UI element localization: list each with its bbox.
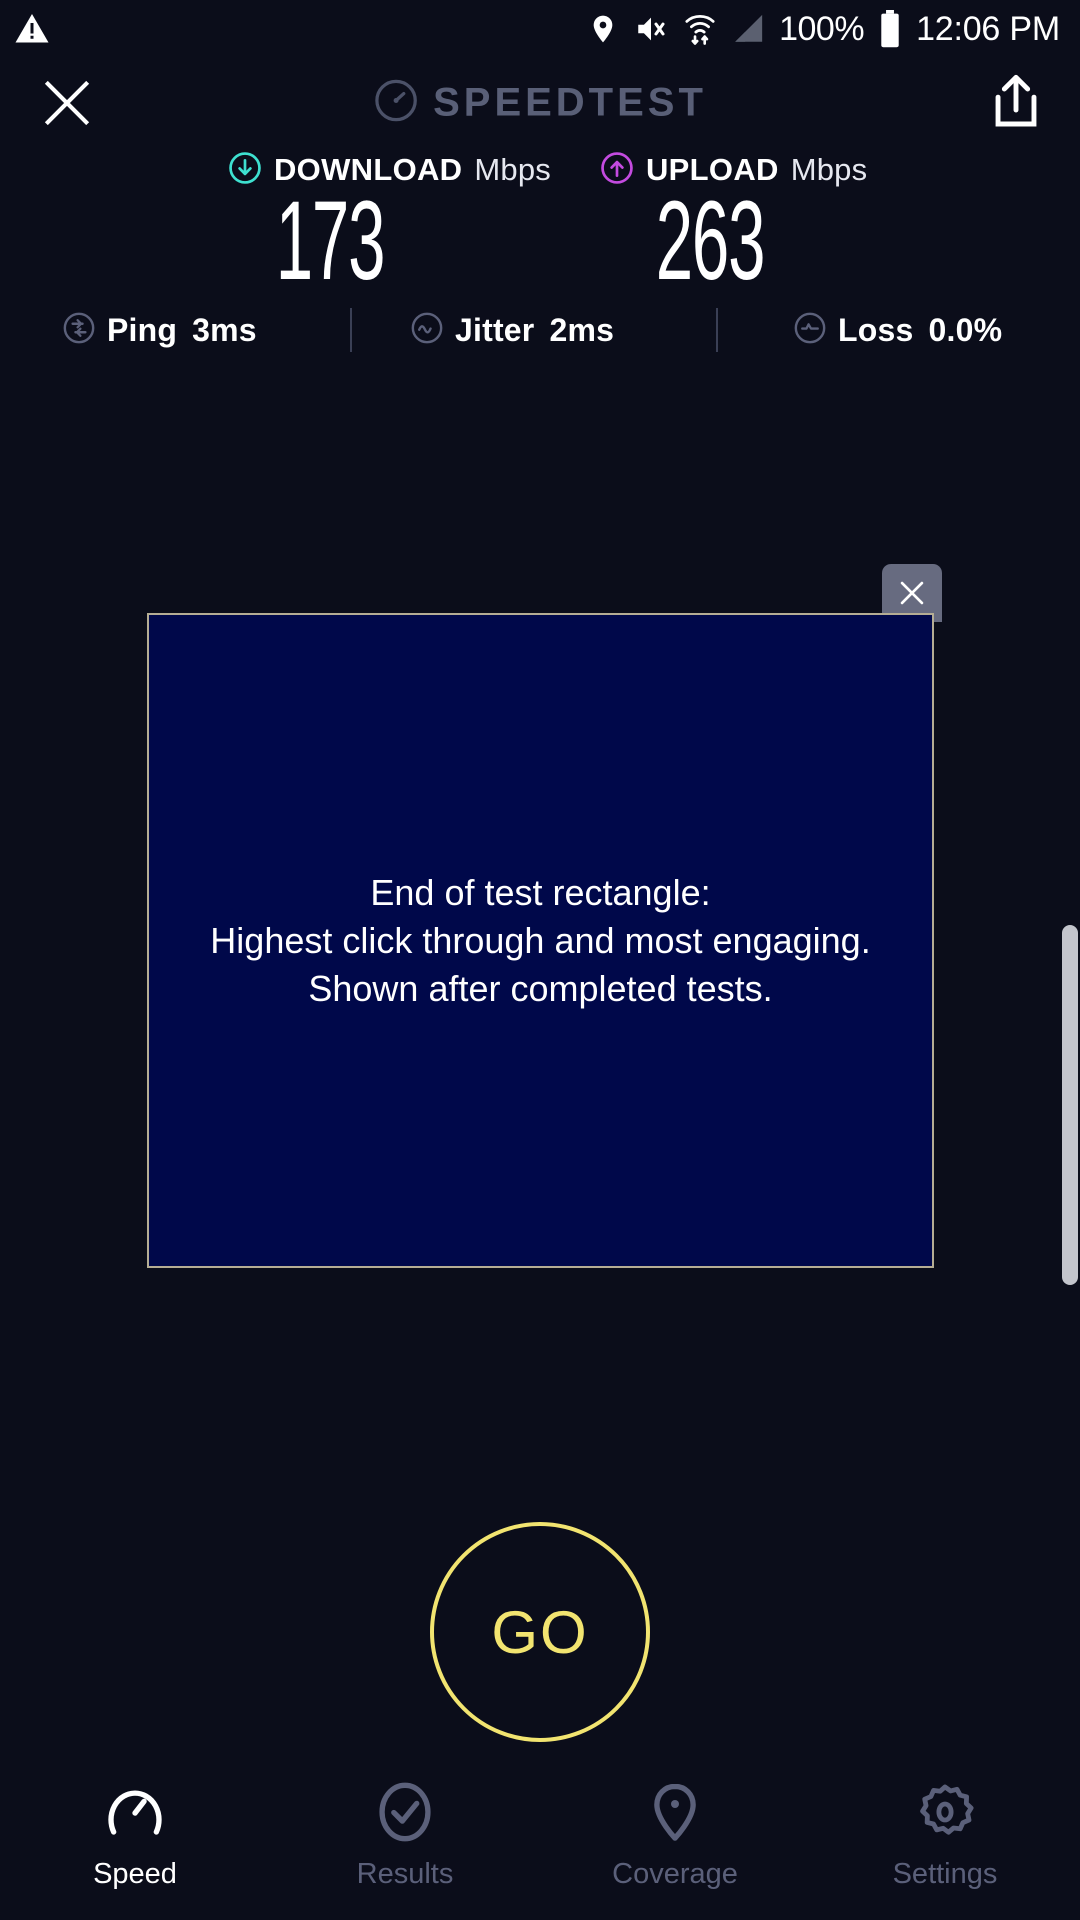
status-bar-left: [0, 11, 50, 47]
clock-label: 12:06 PM: [916, 10, 1060, 49]
bottom-navigation: Speed Results Coverage: [0, 1770, 1080, 1920]
battery-percent-label: 100%: [779, 10, 864, 49]
advertisement-banner[interactable]: End of test rectangle: Highest click thr…: [147, 613, 934, 1268]
download-unit: Mbps: [474, 152, 551, 188]
nav-item-speed[interactable]: Speed: [0, 1780, 270, 1891]
gear-icon: [913, 1780, 977, 1844]
wifi-transfer-icon: [683, 11, 717, 47]
share-upload-icon[interactable]: [988, 72, 1044, 134]
nav-label-speed: Speed: [93, 1858, 177, 1891]
check-circle-icon: [373, 1780, 437, 1844]
metric-loss-label: Loss: [838, 312, 914, 349]
metrics-row: Ping 3ms Jitter 2ms Loss 0.0: [0, 300, 1080, 360]
cell-signal-icon: [731, 12, 765, 46]
upload-arrow-circle-icon: [600, 151, 634, 190]
metric-ping: Ping 3ms: [62, 300, 257, 360]
nav-item-results[interactable]: Results: [270, 1780, 540, 1891]
download-arrow-circle-icon: [228, 151, 262, 190]
ping-icon: [62, 311, 96, 350]
nav-item-coverage[interactable]: Coverage: [540, 1780, 810, 1891]
page-title: SPEEDTEST: [433, 81, 707, 126]
nav-label-settings: Settings: [893, 1858, 998, 1891]
volume-muted-icon: [633, 12, 669, 46]
battery-full-icon: [878, 10, 902, 48]
upload-speed-value: 263: [632, 185, 788, 297]
metric-ping-label: Ping: [107, 312, 177, 349]
metric-loss-value: 0.0%: [929, 312, 1003, 349]
status-bar-right: 100% 12:06 PM: [587, 10, 1080, 49]
app-header: SPEEDTEST: [0, 58, 1080, 148]
map-pin-icon: [643, 1780, 707, 1844]
nav-label-coverage: Coverage: [612, 1858, 738, 1891]
metric-ping-value: 3ms: [192, 312, 257, 349]
location-pin-icon: [587, 12, 619, 46]
vertical-scrollbar[interactable]: [1062, 925, 1078, 1285]
go-button[interactable]: GO: [430, 1522, 650, 1742]
ad-text: End of test rectangle: Highest click thr…: [210, 869, 870, 1013]
warning-triangle-icon: [14, 11, 50, 47]
metric-jitter-value: 2ms: [549, 312, 614, 349]
jitter-icon: [410, 311, 444, 350]
brand: SPEEDTEST: [373, 78, 707, 129]
nav-label-results: Results: [357, 1858, 454, 1891]
metric-loss: Loss 0.0%: [793, 300, 1002, 360]
speedtest-app-screen: 100% 12:06 PM S: [0, 0, 1080, 1920]
upload-unit: Mbps: [791, 152, 868, 188]
result-values-row: 173 263: [0, 185, 1080, 305]
speedometer-icon: [103, 1780, 167, 1844]
download-speed-value: 173: [252, 185, 408, 297]
metric-divider: [716, 308, 718, 352]
go-button-label: GO: [491, 1598, 588, 1667]
speedtest-gauge-icon: [373, 78, 419, 129]
nav-item-settings[interactable]: Settings: [810, 1780, 1080, 1891]
metric-jitter-label: Jitter: [455, 312, 534, 349]
status-bar: 100% 12:06 PM: [0, 0, 1080, 58]
loss-icon: [793, 311, 827, 350]
close-x-icon[interactable]: [36, 72, 98, 134]
metric-jitter: Jitter 2ms: [410, 300, 614, 360]
metric-divider: [350, 308, 352, 352]
